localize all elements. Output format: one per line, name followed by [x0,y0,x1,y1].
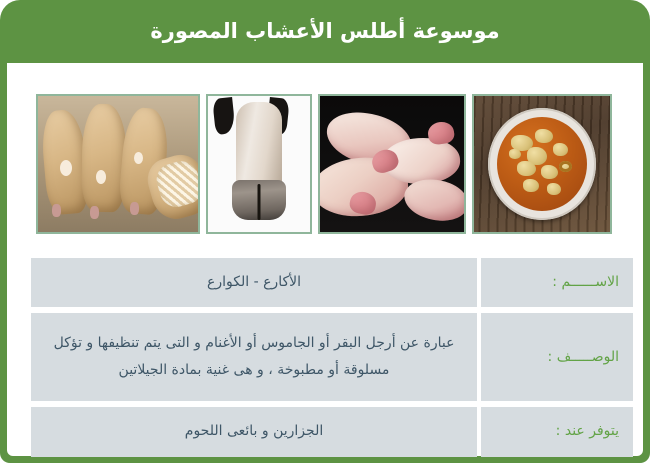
fat-spot [96,170,106,184]
hoof-nail [52,204,61,217]
field-label-availability: يتوفر عند : [481,407,633,456]
card-header: موسوعة أطلس الأعشاب المصورة [0,0,650,63]
encyclopedia-card: موسوعة أطلس الأعشاب المصورة [0,0,650,463]
meat-chunk [553,143,568,156]
meat-chunk [517,161,536,176]
meat-chunk [509,149,521,159]
broth-shape [497,117,587,211]
field-label-name: الاســــــم : [481,258,633,307]
meat-chunk [535,129,553,143]
gallery-thumbnail-raw-pale-trotters[interactable] [318,94,466,234]
raw-trotters-photo [320,96,464,232]
gallery-thumbnail-bowl-of-trotter-stew[interactable] [472,94,612,234]
hoof-leg-shape [236,102,282,188]
trotter-tip [427,120,456,145]
field-value-availability: الجزارين و بائعى اللحوم [31,407,477,456]
card-body: الاســــــم : الأكارع - الكوارع الوصــــ… [7,63,643,456]
page-title: موسوعة أطلس الأعشاب المصورة [150,20,499,43]
hoof-background-shadow [212,97,236,135]
table-row: يتوفر عند : الجزارين و بائعى اللحوم [31,407,633,456]
hoof-photo [208,96,310,232]
cooked-trotters-photo [38,96,198,232]
meat-chunk [559,161,572,172]
meat-chunk [547,183,561,195]
meat-chunk [541,165,558,179]
table-row: الاســــــم : الأكارع - الكوارع [31,258,633,307]
meat-chunk [523,179,539,192]
hoof-cleft [258,184,261,220]
fat-spot [60,160,72,176]
stew-photo [474,96,610,232]
fat-spot [134,152,143,164]
gallery-thumbnail-bovine-hoof[interactable] [206,94,312,234]
thumbnail-image-stew [474,96,610,232]
gallery-thumbnail-cooked-trotters-pile[interactable] [36,94,200,234]
table-row: الوصـــــف : عبارة عن أرجل البقر أو الجا… [31,313,633,401]
trotter-shape [402,176,464,225]
image-gallery [38,94,612,234]
info-table: الاســــــم : الأكارع - الكوارع الوصــــ… [31,258,633,457]
thumbnail-image-cooked-trotters [38,96,198,232]
hoof-nail [90,206,99,219]
thumbnail-image-raw-trotters [320,96,464,232]
hoof-nail [130,202,139,215]
field-label-description: الوصـــــف : [481,313,633,401]
thumbnail-image-hoof [208,96,310,232]
field-value-name: الأكارع - الكوارع [31,258,477,307]
field-value-description: عبارة عن أرجل البقر أو الجاموس أو الأغنا… [31,313,477,401]
